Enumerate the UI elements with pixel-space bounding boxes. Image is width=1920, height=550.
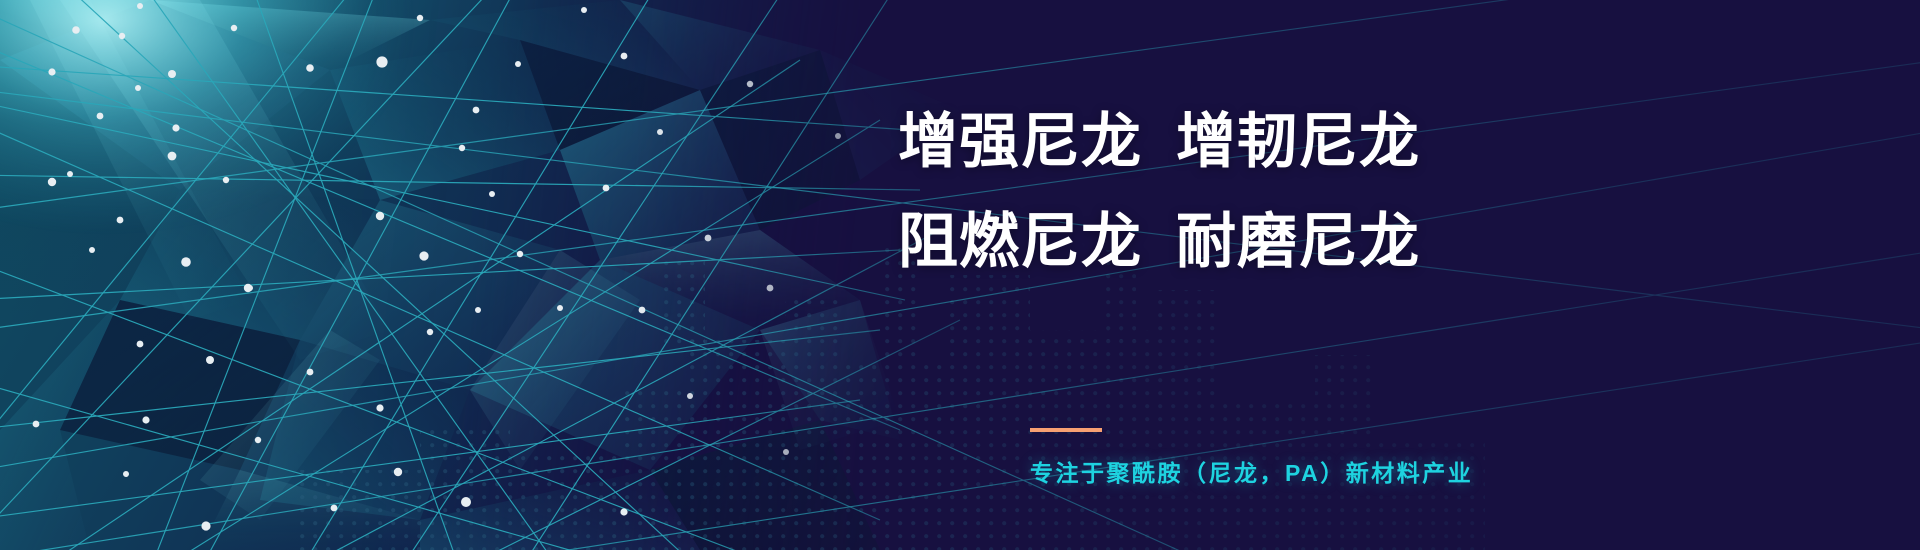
subtitle-divider-rule (1030, 428, 1102, 432)
headline-line1-right: 增韧尼龙 (1176, 108, 1420, 175)
hero-banner: 增强尼龙增韧尼龙 阻燃尼龙耐磨尼龙 专注于聚酰胺（尼龙，PA）新材料产业 (0, 0, 1920, 550)
headline-block: 增强尼龙增韧尼龙 阻燃尼龙耐磨尼龙 (898, 92, 1518, 292)
headline-line-1: 增强尼龙增韧尼龙 (898, 92, 1518, 192)
subtitle-text: 专注于聚酰胺（尼龙，PA）新材料产业 (1030, 454, 1473, 488)
headline-line-2: 阻燃尼龙耐磨尼龙 (898, 192, 1518, 292)
subtitle-block: 专注于聚酰胺（尼龙，PA）新材料产业 (1030, 428, 1473, 488)
headline-line1-left: 增强尼龙 (898, 108, 1142, 175)
headline-line2-right: 耐磨尼龙 (1176, 208, 1420, 275)
headline-line2-left: 阻燃尼龙 (898, 208, 1142, 275)
